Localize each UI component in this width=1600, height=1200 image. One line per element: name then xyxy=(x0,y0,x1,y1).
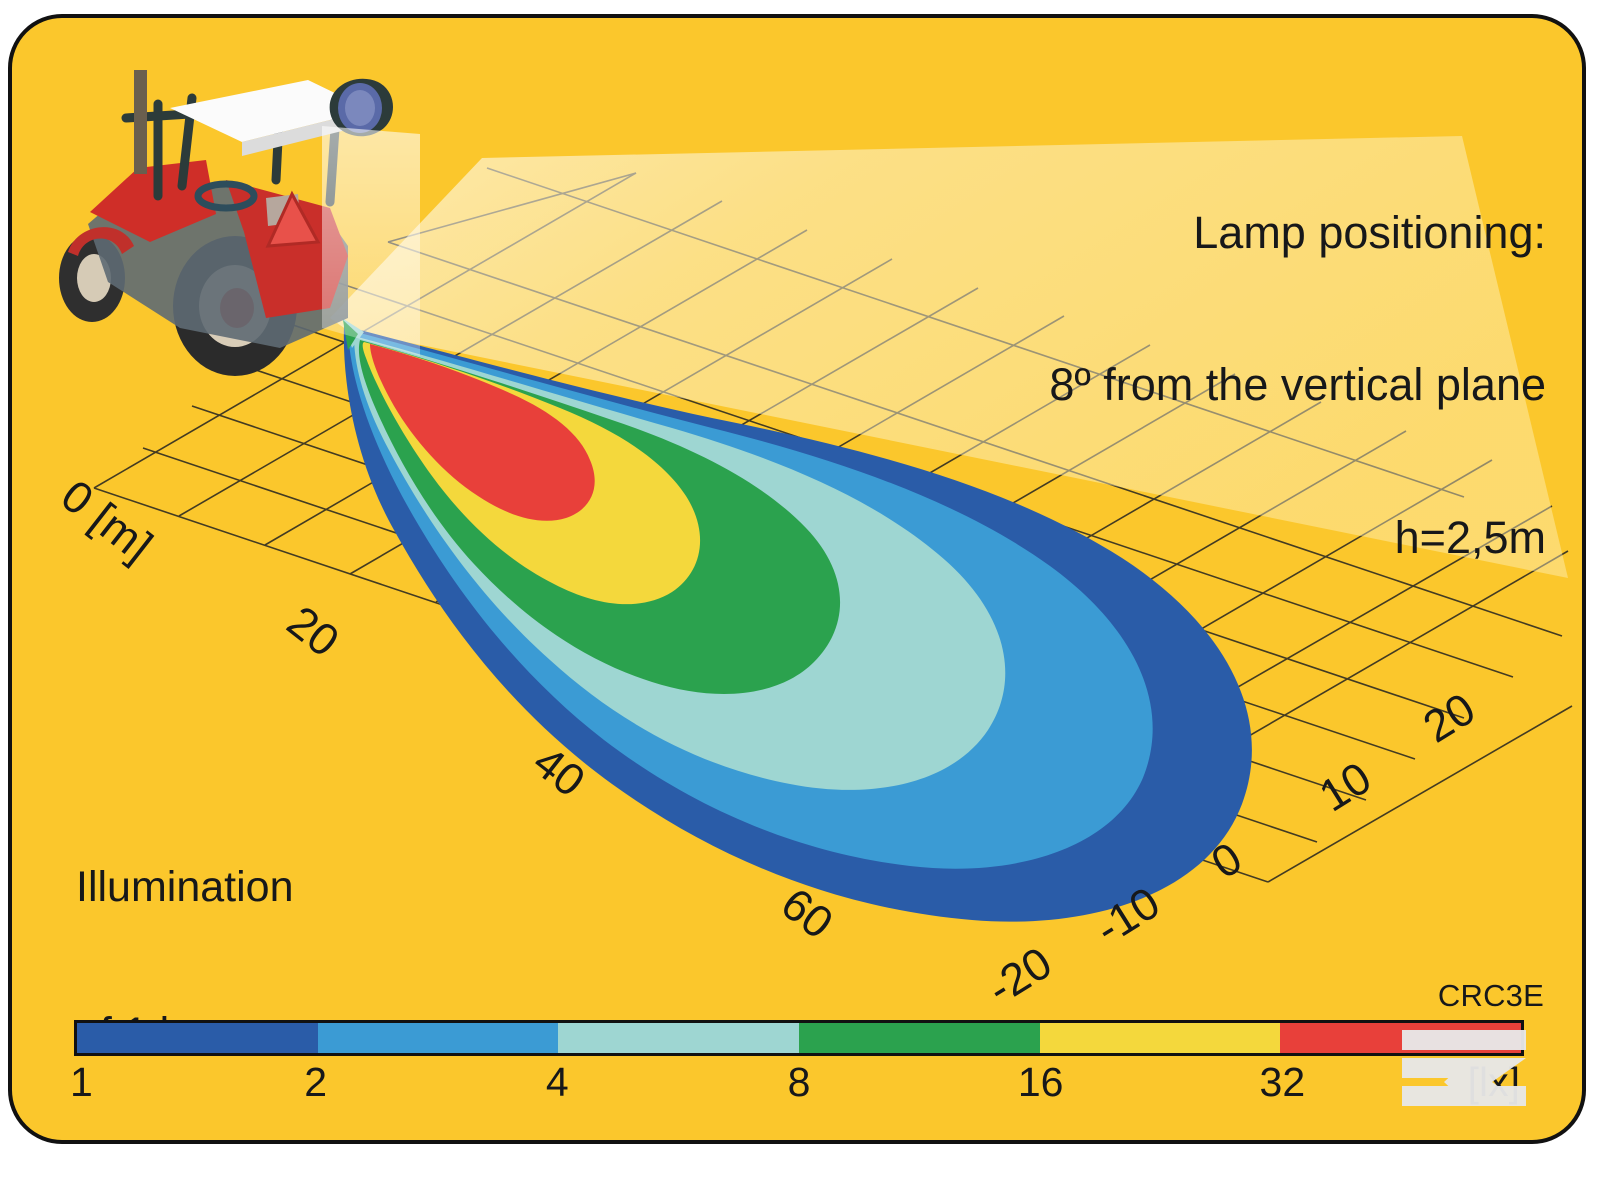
colorbar xyxy=(74,1020,1524,1056)
illumination-diagram-card: 0 [m] 20 40 60 20 10 0 -10 -20 xyxy=(8,14,1586,1144)
colorbar-tick-2: 2 xyxy=(304,1059,327,1106)
colorbar-band-8lx xyxy=(799,1023,1040,1053)
screenshot-root: 0 [m] 20 40 60 20 10 0 -10 -20 xyxy=(0,0,1600,1200)
colorbar-tick-8: 8 xyxy=(788,1059,811,1106)
colorbar-tick-1: 1 xyxy=(70,1059,93,1106)
exhaust-pipe xyxy=(134,70,147,174)
axis-tick-lat-20: 20 xyxy=(1414,683,1483,753)
lamp-positioning-note: Lamp positioning: 8º from the vertical p… xyxy=(1049,106,1546,665)
tractor-icon xyxy=(30,56,420,386)
colorbar-tick-labels: 12481632[lx] xyxy=(74,1059,1524,1107)
lamp-plane-overlay xyxy=(322,126,420,356)
axis-tick-20m: 20 xyxy=(278,596,349,667)
lamp-note-line-3: h=2,5m xyxy=(1049,513,1546,564)
colorbar-band-16lx xyxy=(1040,1023,1281,1053)
colorbar-band-4lx xyxy=(558,1023,799,1053)
lamp-note-line-1: Lamp positioning: xyxy=(1049,208,1546,259)
product-code-label: CRC3E xyxy=(1438,978,1544,1013)
lux-colorbar-legend: 12481632[lx] xyxy=(74,1020,1524,1107)
colorbar-tick-16: 16 xyxy=(1018,1059,1064,1106)
illumination-line-1: Illumination xyxy=(76,863,525,912)
axis-tick-0m: 0 [m] xyxy=(52,470,162,572)
colorbar-band-2lx xyxy=(318,1023,559,1053)
lamp-note-line-2: 8º from the vertical plane xyxy=(1049,360,1546,411)
colorbar-tick-32: 32 xyxy=(1260,1059,1306,1106)
kramp-logo-watermark xyxy=(1392,1024,1562,1144)
axis-tick-lat-10: 10 xyxy=(1310,752,1379,822)
colorbar-band-1lx xyxy=(77,1023,318,1053)
colorbar-tick-4: 4 xyxy=(546,1059,569,1106)
axis-tick-lat-0: 0 xyxy=(1202,832,1250,889)
axis-tick-lat-m20: -20 xyxy=(978,937,1060,1015)
